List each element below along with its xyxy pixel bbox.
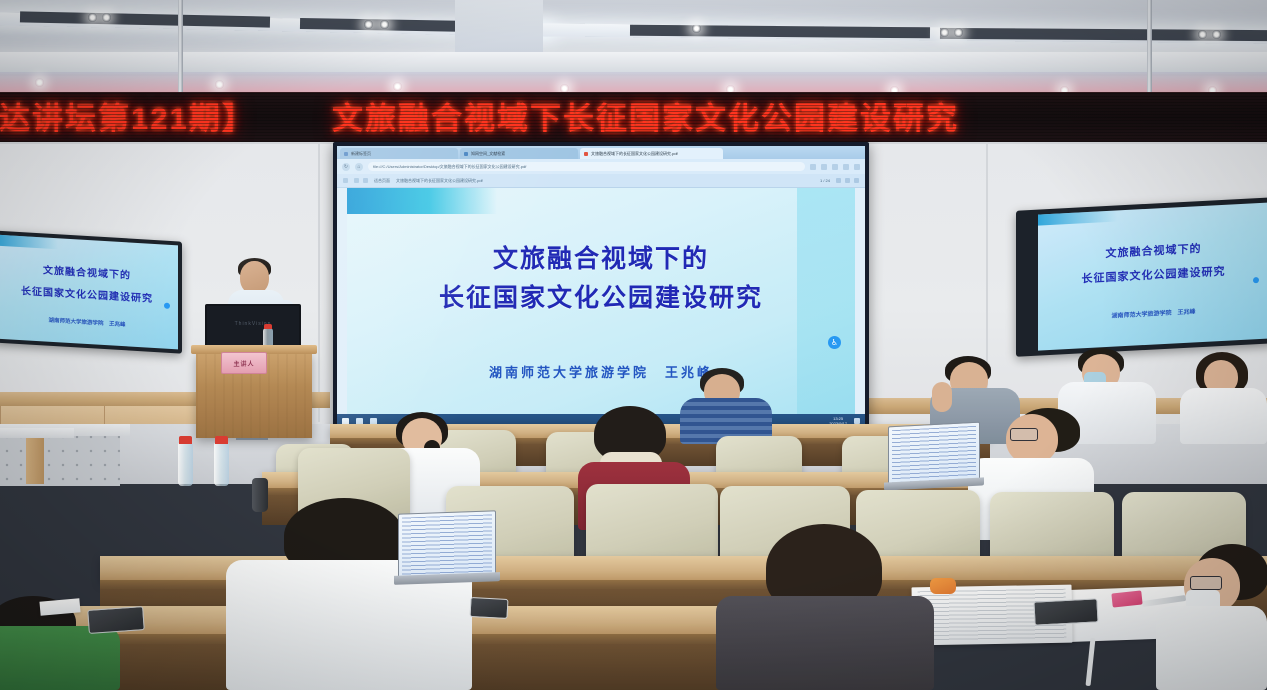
ceiling-support-pole bbox=[1147, 0, 1152, 92]
slide-title: 文旅融合视域下的 长征国家文化公园建设研究 bbox=[347, 240, 855, 318]
side-monitor-left-title-1: 文旅融合视域下的 bbox=[0, 259, 178, 285]
menu-icon[interactable] bbox=[854, 164, 860, 170]
mobile-phone bbox=[1033, 598, 1098, 625]
tab-favicon-icon bbox=[464, 152, 468, 156]
accessibility-icon bbox=[1253, 277, 1259, 283]
eyeglasses bbox=[1190, 576, 1222, 590]
person-body bbox=[1180, 388, 1267, 444]
mobile-phone bbox=[470, 597, 509, 619]
wall-downlight bbox=[215, 80, 224, 89]
bottle-cap bbox=[215, 436, 228, 444]
home-icon[interactable]: ⌂ bbox=[355, 163, 363, 171]
led-banner-segment-1: 李达讲坛第121期】 bbox=[0, 101, 255, 136]
accessibility-icon[interactable]: ♿ bbox=[828, 336, 841, 349]
side-monitor-right-screen: 文旅融合视域下的 长征国家文化公园建设研究 湖南师范大学旅游学院 王兆峰 bbox=[1038, 203, 1267, 351]
water-bottle bbox=[214, 442, 229, 486]
person-arm bbox=[932, 382, 952, 412]
ceiling-spotlight bbox=[940, 28, 949, 37]
ceiling-spotlight bbox=[364, 20, 373, 29]
slide-subtitle: 湖南师范大学旅游学院 王兆峰 bbox=[347, 362, 855, 381]
ceiling-spotlight bbox=[1212, 30, 1221, 39]
browser-tab-2[interactable]: 知网空间_文献检索 bbox=[460, 148, 578, 159]
extension-icon[interactable] bbox=[832, 164, 838, 170]
eyeglasses bbox=[1010, 428, 1038, 441]
laptop-screen-content bbox=[892, 426, 976, 482]
bookmark-icon[interactable] bbox=[810, 164, 816, 170]
laptop-screen bbox=[888, 422, 980, 487]
ceiling-spotlight bbox=[1198, 30, 1207, 39]
wall-perforated-panel bbox=[0, 430, 120, 486]
browser-toolbar-icons bbox=[810, 164, 860, 170]
browser-tab-3-label: 文旅融合视域下的长征国家文化公园建设研究.pdf bbox=[591, 151, 678, 157]
slide-title-line-1: 文旅融合视域下的 bbox=[347, 240, 855, 279]
main-projection-screen: 新建标签页 知网空间_文献检索 文旅融合视域下的长征国家文化公园建设研究.pdf… bbox=[333, 142, 869, 432]
pdf-sidebar-toggle[interactable] bbox=[343, 178, 348, 183]
sidebar-icon bbox=[343, 178, 348, 183]
accessibility-icon bbox=[164, 303, 170, 309]
side-monitor-left: 文旅融合视域下的 长征国家文化公园建设研究 湖南师范大学旅游学院 王兆峰 bbox=[0, 230, 182, 353]
zoom-out-icon bbox=[354, 178, 359, 183]
dark-thermos bbox=[252, 478, 268, 512]
ceiling-projector-housing bbox=[455, 0, 543, 56]
wall-downlight bbox=[393, 82, 402, 91]
ceiling-spotlight bbox=[692, 24, 701, 33]
presentation-slide: 文旅融合视域下的 长征国家文化公园建设研究 湖南师范大学旅游学院 王兆峰 ♿ bbox=[347, 188, 855, 414]
side-monitor-right-title-1: 文旅融合视域下的 bbox=[1038, 237, 1267, 265]
side-monitor-right-title-2: 长征国家文化公园建设研究 bbox=[1038, 261, 1267, 289]
snack-item bbox=[930, 578, 956, 594]
lecture-hall-photo: 李达讲坛第121期】 文旅融合视域下长征国家文化公园建设研究 文旅融合视域下的 … bbox=[0, 0, 1267, 690]
side-monitor-right: 文旅融合视域下的 长征国家文化公园建设研究 湖南师范大学旅游学院 王兆峰 bbox=[1016, 197, 1267, 357]
profile-icon[interactable] bbox=[843, 164, 849, 170]
slide-accent-bar bbox=[0, 235, 58, 250]
person-body bbox=[0, 626, 120, 690]
url-input[interactable]: file:///C:/Users/Administrator/Desktop/文… bbox=[368, 162, 805, 171]
speaker-nameplate: 主讲人 bbox=[221, 352, 267, 374]
tab-favicon-icon bbox=[344, 152, 348, 156]
wall-downlight bbox=[35, 78, 44, 87]
pdf-page-indicator: 1 / 24 bbox=[820, 178, 830, 183]
mobile-phone bbox=[87, 606, 145, 634]
slide-title-line-2: 长征国家文化公园建设研究 bbox=[347, 279, 855, 318]
browser-tab-2-label: 知网空间_文献检索 bbox=[471, 151, 505, 157]
ceiling-spotlight bbox=[380, 20, 389, 29]
pdf-viewer-toolbar: 适合页面 文旅融合视域下的长征国家文化公园建设研究.pdf 1 / 24 bbox=[337, 174, 865, 188]
led-banner: 李达讲坛第121期】 文旅融合视域下长征国家文化公园建设研究 bbox=[0, 92, 1267, 144]
ceiling-support-pole bbox=[178, 0, 183, 92]
side-table-leg bbox=[26, 438, 44, 484]
download-icon bbox=[845, 178, 850, 183]
browser-tabstrip: 新建标签页 知网空间_文献检索 文旅融合视域下的长征国家文化公园建设研究.pdf bbox=[337, 146, 865, 159]
ceiling-spotlight bbox=[102, 13, 111, 22]
browser-url-bar: ↻ ⌂ file:///C:/Users/Administrator/Deskt… bbox=[337, 159, 865, 174]
more-options-icon bbox=[854, 178, 859, 183]
side-monitor-left-screen: 文旅融合视域下的 长征国家文化公园建设研究 湖南师范大学旅游学院 王兆峰 bbox=[0, 235, 178, 350]
person-body bbox=[716, 596, 934, 690]
side-monitor-left-subtitle: 湖南师范大学旅游学院 王兆峰 bbox=[0, 313, 178, 332]
zoom-in-icon bbox=[363, 178, 368, 183]
side-monitor-left-title-2: 长征国家文化公园建设研究 bbox=[0, 281, 178, 307]
ceiling-spotlight bbox=[954, 28, 963, 37]
browser-tab-1[interactable]: 新建标签页 bbox=[340, 148, 458, 159]
ceiling-spotlight bbox=[88, 13, 97, 22]
pdf-document-area: 文旅融合视域下的 长征国家文化公园建设研究 湖南师范大学旅游学院 王兆峰 ♿ 1… bbox=[337, 188, 865, 428]
download-icon[interactable] bbox=[821, 164, 827, 170]
laptop-screen bbox=[398, 510, 496, 579]
slide-accent-bar bbox=[1038, 210, 1117, 225]
pdf-zoom-controls[interactable] bbox=[354, 178, 368, 183]
tab-favicon-icon bbox=[584, 152, 588, 156]
reload-icon[interactable]: ↻ bbox=[342, 163, 350, 171]
browser-window: 新建标签页 知网空间_文献检索 文旅融合视域下的长征国家文化公园建设研究.pdf… bbox=[337, 146, 865, 428]
browser-tab-3-active[interactable]: 文旅融合视域下的长征国家文化公园建设研究.pdf bbox=[580, 148, 723, 159]
person-body bbox=[1156, 606, 1267, 690]
side-monitor-right-subtitle: 湖南师范大学旅游学院 王兆峰 bbox=[1038, 303, 1267, 324]
wall-seam bbox=[318, 142, 320, 422]
led-banner-segment-2: 文旅融合视域下长征国家文化公园建设研究 bbox=[332, 101, 959, 136]
browser-tab-1-label: 新建标签页 bbox=[351, 151, 371, 157]
water-bottle bbox=[178, 442, 193, 486]
led-banner-text: 李达讲坛第121期】 文旅融合视域下长征国家文化公园建设研究 bbox=[0, 103, 959, 134]
charging-cable bbox=[1086, 638, 1096, 686]
pdf-document-title: 文旅融合视域下的长征国家文化公园建设研究.pdf bbox=[396, 178, 814, 184]
slide-accent-bar bbox=[347, 188, 497, 214]
pdf-actions[interactable] bbox=[836, 178, 859, 183]
podium-monitor-brand: ThinkVision bbox=[207, 321, 299, 327]
laptop-screen-content bbox=[402, 514, 492, 575]
bottle-cap bbox=[179, 436, 192, 444]
print-icon bbox=[836, 178, 841, 183]
pdf-zoom-label: 适合页面 bbox=[374, 178, 390, 184]
bottle-cap bbox=[264, 324, 272, 329]
side-table-top bbox=[0, 428, 74, 438]
